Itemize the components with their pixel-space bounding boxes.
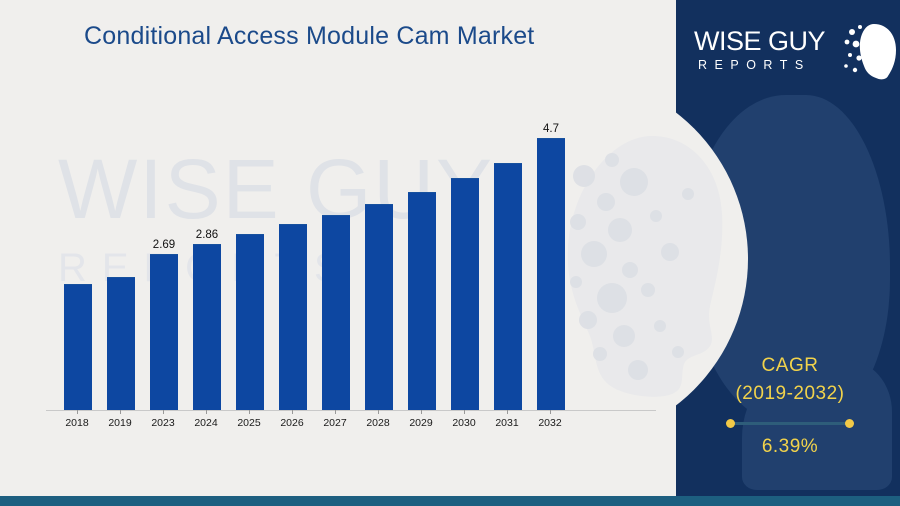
- bar-2023: [150, 254, 178, 410]
- bar-2030: [451, 178, 479, 410]
- x-axis-line: [46, 410, 656, 411]
- bar-2024: [193, 244, 221, 410]
- wiseguy-logo: WISE GUY REPORTS: [694, 22, 894, 84]
- bar-2029: [408, 192, 436, 410]
- bar-chart: Market Value in USD Billion 201820192.69…: [0, 0, 678, 497]
- x-axis-tick: [163, 410, 164, 414]
- bar-2028: [365, 204, 393, 410]
- bar-value-label: 4.7: [525, 123, 577, 135]
- bar-group: 2.692023: [138, 110, 181, 410]
- bar-group: 2025: [224, 110, 267, 410]
- footer-accent-bar: [0, 496, 900, 506]
- x-axis-tick: [292, 410, 293, 414]
- x-axis-label-2032: 2032: [523, 417, 577, 429]
- bar-2026: [279, 224, 307, 410]
- x-axis-tick: [507, 410, 508, 414]
- bar-group: 2031: [482, 110, 525, 410]
- x-axis-tick: [550, 410, 551, 414]
- bar-2025: [236, 234, 264, 410]
- bar-group: 4.72032: [525, 110, 568, 410]
- logo-secondary-text: REPORTS: [698, 58, 811, 72]
- bar-group: 2027: [310, 110, 353, 410]
- cagr-divider-dot-left: [726, 419, 735, 428]
- bar-2031: [494, 163, 522, 410]
- logo-primary-text: WISE GUY: [694, 26, 825, 57]
- cagr-divider: [726, 419, 854, 428]
- page-title: Conditional Access Module Cam Market: [84, 20, 554, 53]
- x-axis-tick: [421, 410, 422, 414]
- cagr-block: CAGR (2019-2032) 6.39%: [684, 352, 896, 458]
- plot-area: 201820192.6920232.8620242025202620272028…: [46, 110, 656, 410]
- bar-2019: [107, 277, 135, 410]
- bar-group: 2.862024: [181, 110, 224, 410]
- cagr-value: 6.39%: [684, 436, 896, 458]
- logo-head-icon: [844, 22, 898, 82]
- infographic-root: WISE GUY REPORTS Conditional Access Modu…: [0, 0, 900, 506]
- bar-group: 2019: [95, 110, 138, 410]
- cagr-divider-line: [732, 422, 848, 425]
- cagr-divider-dot-right: [845, 419, 854, 428]
- bar-group: 2026: [267, 110, 310, 410]
- bar-2027: [322, 215, 350, 410]
- x-axis-tick: [206, 410, 207, 414]
- x-axis-tick: [249, 410, 250, 414]
- x-axis-tick: [77, 410, 78, 414]
- x-axis-tick: [378, 410, 379, 414]
- cagr-period: (2019-2032): [684, 380, 896, 408]
- x-axis-tick: [120, 410, 121, 414]
- cagr-label: CAGR: [684, 352, 896, 380]
- bar-group: 2018: [52, 110, 95, 410]
- bar-group: 2028: [353, 110, 396, 410]
- x-axis-tick: [464, 410, 465, 414]
- bar-2018: [64, 284, 92, 410]
- bar-2032: [537, 138, 565, 410]
- bar-group: 2029: [396, 110, 439, 410]
- bar-group: 2030: [439, 110, 482, 410]
- x-axis-tick: [335, 410, 336, 414]
